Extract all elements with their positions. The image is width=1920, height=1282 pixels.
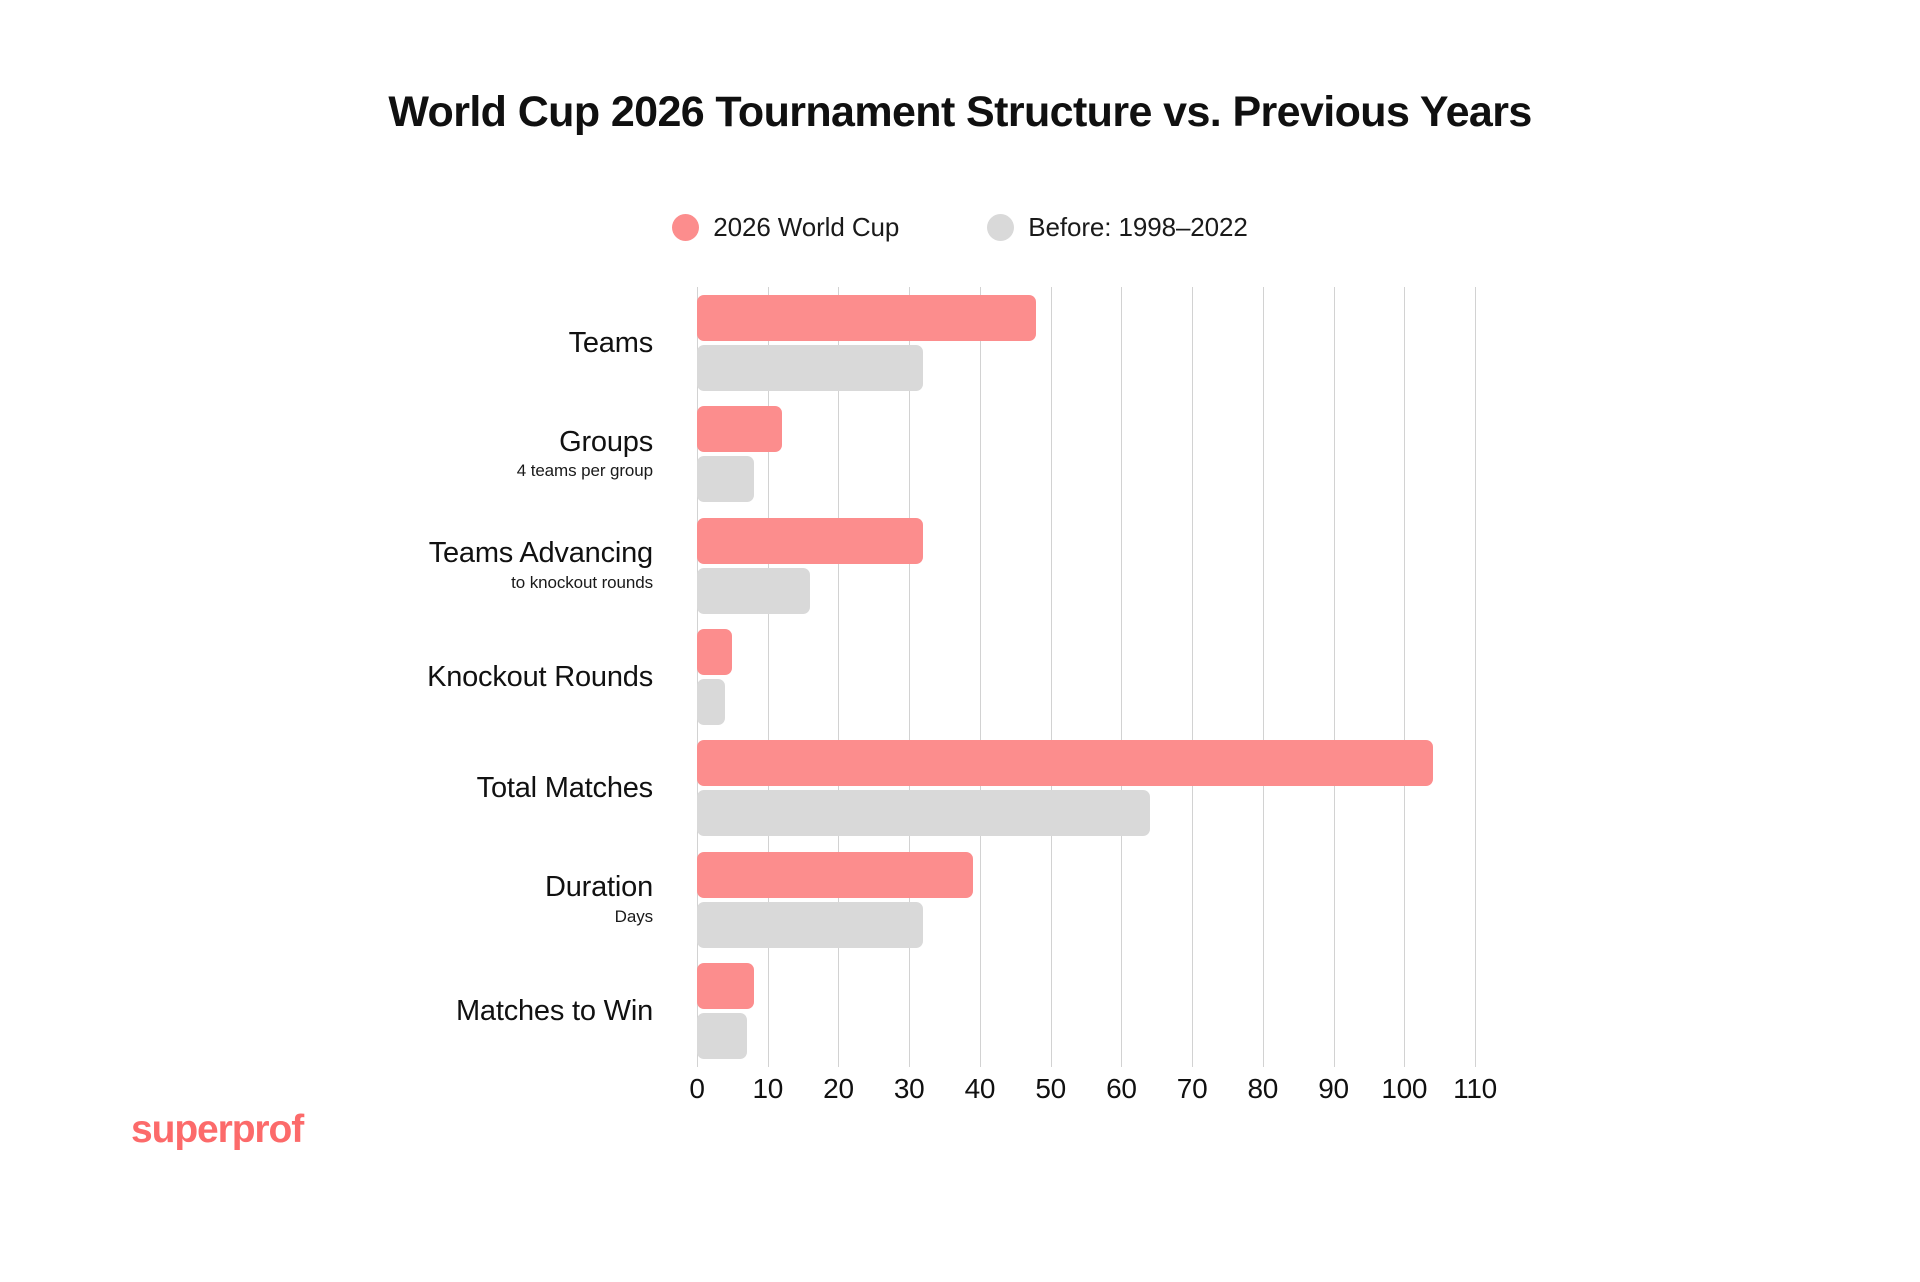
y-axis-label-4: Knockout Rounds	[308, 662, 653, 692]
bar-primary[interactable]	[697, 740, 1433, 786]
bar-secondary[interactable]	[697, 790, 1150, 836]
y-axis-label-7: Matches to Win	[308, 996, 653, 1026]
x-tick-label: 100	[1381, 1073, 1427, 1105]
chart-canvas: World Cup 2026 Tournament Structure vs. …	[0, 0, 1920, 1282]
x-tick-label: 40	[965, 1073, 996, 1105]
legend-item-2[interactable]: Before: 1998–2022	[987, 212, 1248, 243]
x-tick-label: 30	[894, 1073, 925, 1105]
legend-item-1[interactable]: 2026 World Cup	[672, 212, 899, 243]
bar-group	[697, 518, 1475, 614]
x-tick-label: 50	[1035, 1073, 1066, 1105]
chart-legend: 2026 World CupBefore: 1998–2022	[0, 212, 1920, 243]
bar-secondary[interactable]	[697, 679, 725, 725]
bar-secondary[interactable]	[697, 568, 810, 614]
category-label: Teams	[308, 328, 653, 358]
y-axis-label-1: Teams	[308, 328, 653, 358]
chart-title: World Cup 2026 Tournament Structure vs. …	[0, 88, 1920, 137]
bar-secondary[interactable]	[697, 345, 923, 391]
legend-label: 2026 World Cup	[713, 212, 899, 243]
x-tick-label: 0	[689, 1073, 704, 1105]
category-sublabel: 4 teams per group	[308, 460, 653, 481]
category-label: Duration	[308, 872, 653, 902]
bar-primary[interactable]	[697, 295, 1036, 341]
bar-secondary[interactable]	[697, 456, 754, 502]
x-tick-label: 10	[752, 1073, 783, 1105]
x-tick-label: 70	[1177, 1073, 1208, 1105]
bar-primary[interactable]	[697, 629, 732, 675]
y-axis-label-3: Teams Advancingto knockout rounds	[308, 538, 653, 593]
x-tick-label: 60	[1106, 1073, 1137, 1105]
plot-area	[697, 287, 1475, 1067]
bar-rows	[697, 287, 1475, 1067]
x-axis: 0102030405060708090100110	[697, 1073, 1475, 1117]
x-tick-label: 20	[823, 1073, 854, 1105]
category-label: Knockout Rounds	[308, 662, 653, 692]
bar-group	[697, 295, 1475, 391]
category-label: Matches to Win	[308, 996, 653, 1026]
x-tick-label: 110	[1453, 1073, 1497, 1105]
y-axis-labels: TeamsGroups4 teams per groupTeams Advanc…	[330, 287, 675, 1067]
category-label: Total Matches	[308, 773, 653, 803]
legend-label: Before: 1998–2022	[1028, 212, 1248, 243]
bar-group	[697, 740, 1475, 836]
y-axis-label-2: Groups4 teams per group	[308, 427, 653, 482]
bar-group	[697, 406, 1475, 502]
y-axis-label-5: Total Matches	[308, 773, 653, 803]
bar-primary[interactable]	[697, 406, 782, 452]
category-sublabel: Days	[308, 906, 653, 927]
bar-secondary[interactable]	[697, 1013, 747, 1059]
x-tick-label: 90	[1318, 1073, 1349, 1105]
bar-group	[697, 963, 1475, 1059]
superprof-logo: superprof	[131, 1108, 303, 1152]
category-sublabel: to knockout rounds	[308, 572, 653, 593]
bar-secondary[interactable]	[697, 902, 923, 948]
legend-swatch-icon	[987, 214, 1014, 241]
bar-group	[697, 852, 1475, 948]
category-label: Groups	[308, 427, 653, 457]
category-label: Teams Advancing	[308, 538, 653, 568]
y-axis-label-6: DurationDays	[308, 872, 653, 927]
x-tick-label: 80	[1248, 1073, 1279, 1105]
bar-group	[697, 629, 1475, 725]
bar-primary[interactable]	[697, 963, 754, 1009]
bar-primary[interactable]	[697, 852, 973, 898]
legend-swatch-icon	[672, 214, 699, 241]
bar-primary[interactable]	[697, 518, 923, 564]
gridline-110	[1475, 287, 1476, 1067]
